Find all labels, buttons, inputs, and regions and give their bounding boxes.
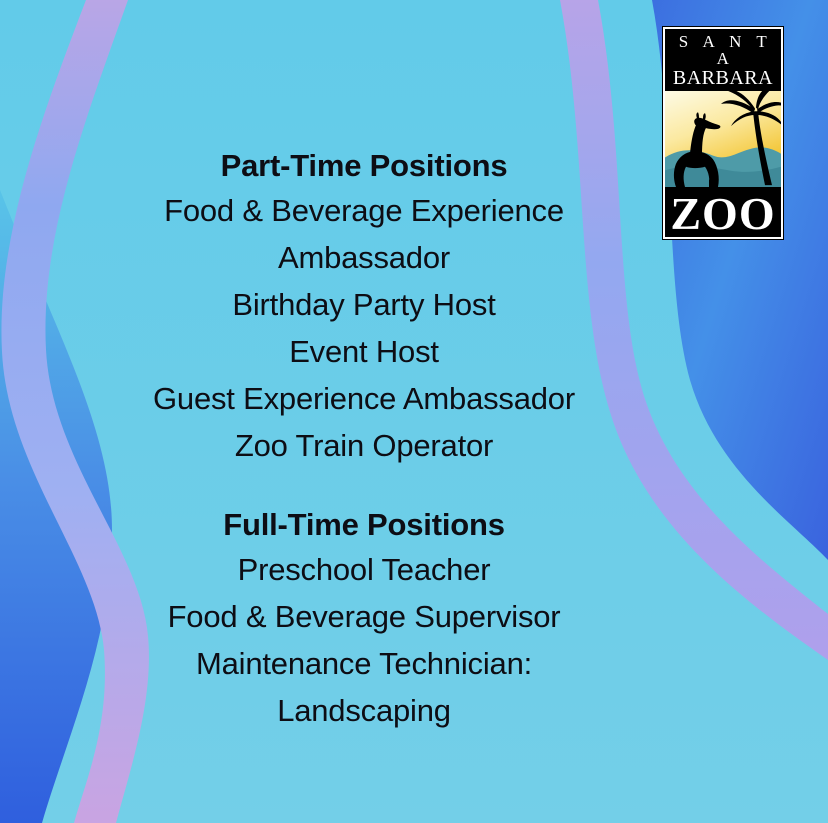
poster-content: S A N T A BARBARA [0, 0, 828, 823]
full-time-heading: Full-Time Positions [0, 509, 728, 540]
section-spacer [0, 477, 728, 509]
job-listing-poster: S A N T A BARBARA [0, 0, 828, 823]
job-item: Event Host [0, 336, 728, 367]
job-item: Preschool Teacher [0, 554, 728, 585]
job-item: Food & Beverage Supervisor [0, 601, 728, 632]
job-item: Guest Experience Ambassador [0, 383, 728, 414]
job-item: Zoo Train Operator [0, 430, 728, 461]
job-item: Maintenance Technician: [0, 648, 728, 679]
job-item: Food & Beverage Experience [0, 195, 728, 226]
positions-list: Part-Time Positions Food & Beverage Expe… [0, 0, 728, 742]
job-item: Birthday Party Host [0, 289, 728, 320]
job-item: Ambassador [0, 242, 728, 273]
part-time-heading: Part-Time Positions [0, 150, 728, 181]
job-item: Landscaping [0, 695, 728, 726]
